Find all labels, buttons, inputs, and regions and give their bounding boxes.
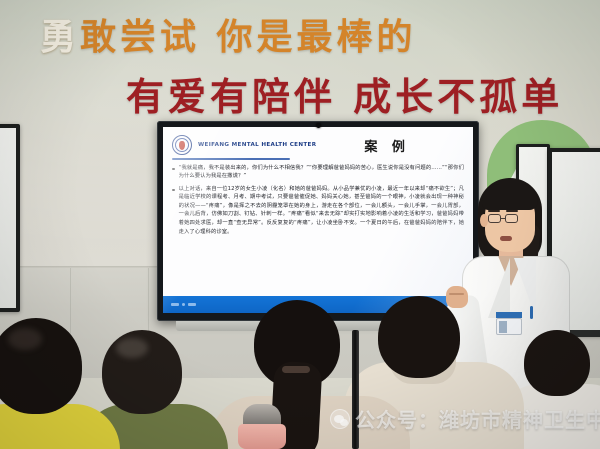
cup-object <box>238 424 286 449</box>
slide-header-rule <box>172 158 290 160</box>
organization-seal-icon <box>172 135 192 155</box>
glasses-lens-icon <box>488 214 501 223</box>
presenter-mouth <box>500 236 512 241</box>
display-screen[interactable]: WEIFANG MENTAL HEALTH CENTER 案 例 “我就是痛，我… <box>163 127 473 313</box>
camera-dot-icon <box>316 123 321 128</box>
glasses-lens-icon <box>505 214 518 223</box>
organization-name-en: WEIFANG MENTAL HEALTH CENTER <box>198 142 316 148</box>
slide-bullet: 以上对话，来自一位12岁的女生小凌（化名）和她的爸爸妈妈。从小品学兼优的小凌，最… <box>172 185 464 236</box>
slide-title: 案 例 <box>364 136 410 155</box>
presenter-brow <box>488 210 500 212</box>
presenter-ear <box>480 214 488 227</box>
wall-banner-line-1-text: 敢尝试 你是最棒的 <box>80 17 417 58</box>
presenter-fringe <box>482 184 538 210</box>
slide-bullet-text: “我就是痛，我不是装出来的，你们为什么不相信我？”“你要理解爸爸妈妈的苦心，医生… <box>179 164 464 181</box>
slide-header: WEIFANG MENTAL HEALTH CENTER 案 例 <box>172 133 464 157</box>
pocket-pen-icon <box>530 306 533 319</box>
footer-decoration-icon <box>171 303 196 306</box>
audience-person-1 <box>0 318 108 449</box>
slide-body: “我就是痛，我不是装出来的，你们为什么不相信我？”“你要理解爸爸妈妈的苦心，医生… <box>172 164 464 237</box>
bullet-dot-icon <box>172 168 175 171</box>
wall-banner-line-1: 勇敢尝试 你是最棒的 <box>40 8 417 60</box>
slide-bullet: “我就是痛，我不是装出来的，你们为什么不相信我？”“你要理解爸爸妈妈的苦心，医生… <box>172 164 464 181</box>
wall-banner-line-2-text: 有爱有陪伴 成长不孤单 <box>126 75 563 119</box>
bullet-dot-icon <box>172 189 175 192</box>
presenter-brow <box>506 210 518 212</box>
slide-bullet-text: 以上对话，来自一位12岁的女生小凌（化名）和她的爸爸妈妈。从小品学兼优的小凌，最… <box>179 185 464 236</box>
wall-banner-line-2: 有爱有陪伴 成长不孤单 <box>126 66 563 121</box>
lecture-room-photo: 勇敢尝试 你是最棒的 有爱有陪伴 成长不孤单 WEIFANG MENTAL HE… <box>0 0 600 449</box>
whiteboard-left <box>0 124 20 312</box>
glasses-bridge-icon <box>501 218 505 219</box>
presentation-slide: WEIFANG MENTAL HEALTH CENTER 案 例 “我就是痛，我… <box>163 127 473 313</box>
microphone-stand <box>352 330 359 449</box>
interactive-display[interactable]: WEIFANG MENTAL HEALTH CENTER 案 例 “我就是痛，我… <box>157 121 479 321</box>
